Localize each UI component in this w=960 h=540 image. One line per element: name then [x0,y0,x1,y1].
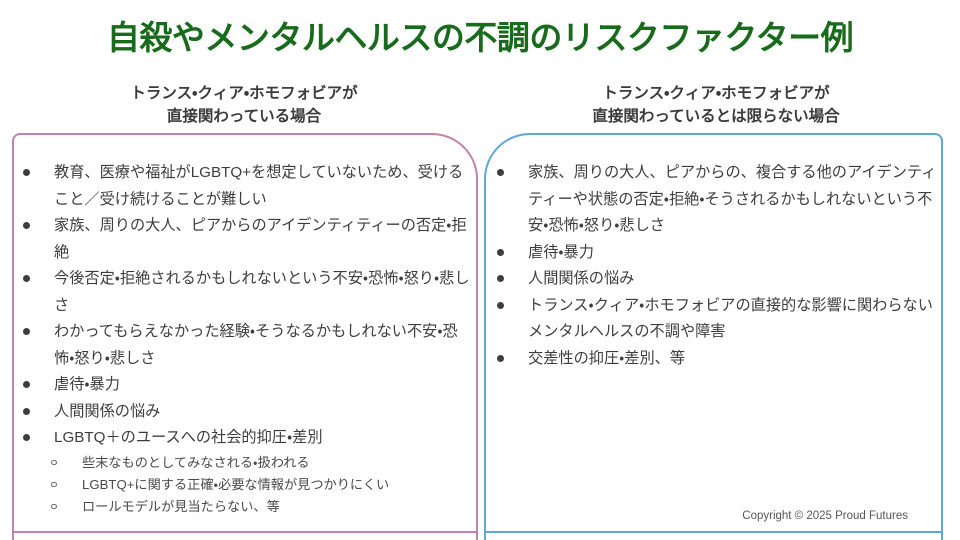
bullet-dot-icon [497,275,504,282]
list-item-label: LGBTQ＋のユースへの社会的抑圧・差別 [54,425,470,452]
copyright-notice: Copyright © 2025 Proud Futures [742,510,908,522]
column-heading-right-line1: トランス・クィア・ホモフォビアが [602,85,829,102]
panel-left-bottom-rule [12,531,478,533]
list-item: 人間関係の悩み [18,399,470,426]
list-item-label: 些末なものとしてみなされる・扱われる [82,452,470,474]
panel-right-bottom-rule [484,531,943,533]
list-item: 虐待・暴力 [18,372,470,399]
list-item-label: 虐待・暴力 [528,240,938,267]
risk-factor-list-left: 教育、医療や福祉がLGBTQ+を想定していないため、受けること／受け続けることが… [18,160,470,518]
bullet-dot-icon [23,328,30,335]
list-item: トランス・クィア・ホモフォビアの直接的な影響に関わらないメンタルヘルスの不調や障… [492,293,938,346]
list-item-label: 家族、周りの大人、ピアからのアイデンティティーの否定・拒絶 [54,213,470,266]
list-item: LGBTQ+に関する正確・必要な情報が見つかりにくい [18,474,470,496]
list-item-label: 人間関係の悩み [54,399,470,426]
list-item-label: 虐待・暴力 [54,372,470,399]
column-heading-right-line2: 直接関わっているとは限らない場合 [490,105,942,128]
bullet-dot-icon [23,381,30,388]
column-heading-left-line1: トランス・クィア・ホモフォビアが [130,85,357,102]
bullet-dot-icon [23,434,30,441]
list-item: 虐待・暴力 [492,240,938,267]
list-item: 教育、医療や福祉がLGBTQ+を想定していないため、受けること／受け続けることが… [18,160,470,213]
column-heading-left: トランス・クィア・ホモフォビアが 直接関わっている場合 [14,82,474,129]
list-item: わかってもらえなかった経験・そうなるかもしれない不安・恐怖・怒り・悲しさ [18,319,470,372]
list-item: 交差性の抑圧・差別、等 [492,346,938,373]
list-item-label: 今後否定・拒絶されるかもしれないという不安・恐怖・怒り・悲しさ [54,266,470,319]
bullet-dot-icon [23,408,30,415]
column-heading-left-line2: 直接関わっている場合 [14,105,474,128]
bullet-dot-icon [23,275,30,282]
bullet-dot-icon [497,302,504,309]
bullet-ring-icon [51,482,57,488]
column-heading-right: トランス・クィア・ホモフォビアが 直接関わっているとは限らない場合 [490,82,942,129]
list-item-label: ロールモデルが見当たらない、等 [82,496,470,518]
list-item: ロールモデルが見当たらない、等 [18,496,470,518]
list-item: 家族、周りの大人、ピアからの、複合する他のアイデンティティーや状態の否定・拒絶・… [492,160,938,240]
bullet-dot-icon [23,169,30,176]
list-item-label: トランス・クィア・ホモフォビアの直接的な影響に関わらないメンタルヘルスの不調や障… [528,293,938,346]
list-item-label: 人間関係の悩み [528,266,938,293]
list-item: 人間関係の悩み [492,266,938,293]
page-title: 自殺やメンタルヘルスの不調のリスクファクター例 [0,18,960,58]
list-item-label: 教育、医療や福祉がLGBTQ+を想定していないため、受けること／受け続けることが… [54,160,470,213]
bullet-dot-icon [497,355,504,362]
list-item: 些末なものとしてみなされる・扱われる [18,452,470,474]
list-item: 今後否定・拒絶されるかもしれないという不安・恐怖・怒り・悲しさ [18,266,470,319]
list-item-label: 交差性の抑圧・差別、等 [528,346,938,373]
list-item: 家族、周りの大人、ピアからのアイデンティティーの否定・拒絶 [18,213,470,266]
list-item-label: 家族、周りの大人、ピアからの、複合する他のアイデンティティーや状態の否定・拒絶・… [528,160,938,240]
list-item-label: LGBTQ+に関する正確・必要な情報が見つかりにくい [82,474,470,496]
bullet-dot-icon [497,169,504,176]
bullet-ring-icon [51,460,57,466]
list-item: LGBTQ＋のユースへの社会的抑圧・差別 [18,425,470,452]
bullet-dot-icon [23,222,30,229]
risk-factor-list-right: 家族、周りの大人、ピアからの、複合する他のアイデンティティーや状態の否定・拒絶・… [492,160,938,372]
list-item-label: わかってもらえなかった経験・そうなるかもしれない不安・恐怖・怒り・悲しさ [54,319,470,372]
bullet-dot-icon [497,249,504,256]
bullet-ring-icon [51,504,57,510]
slide-canvas: 自殺やメンタルヘルスの不調のリスクファクター例 トランス・クィア・ホモフォビアが… [0,0,960,540]
